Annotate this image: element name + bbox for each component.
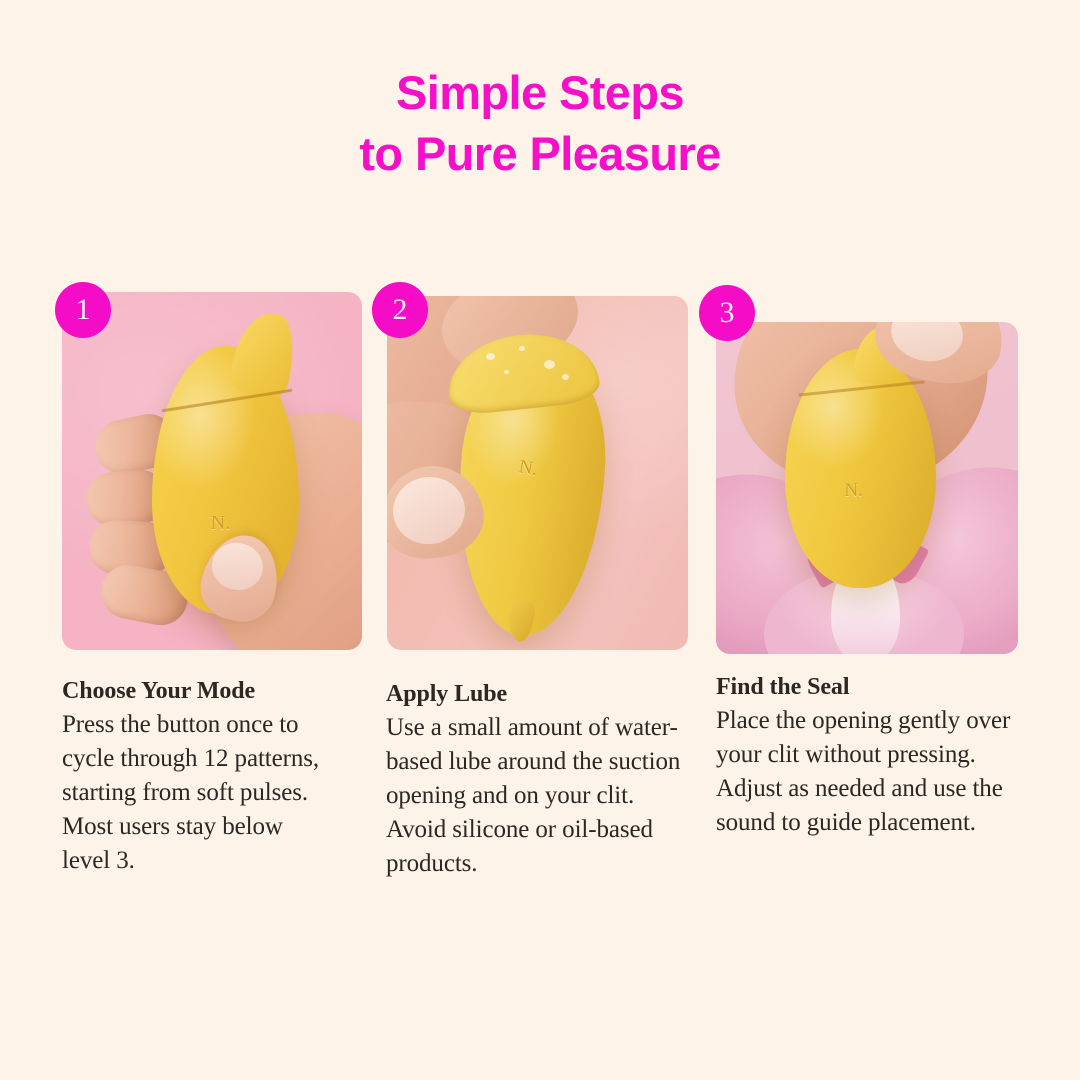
step-photo-3: N. [716,322,1018,654]
step-caption-3: Find the Seal Place the opening gently o… [716,672,1016,840]
step-badge-2: 2 [372,282,428,338]
lube-droplet [544,360,555,369]
step-title-2: Apply Lube [386,679,686,709]
step-caption-2: Apply Lube Use a small amount of water-b… [386,679,686,881]
step-title-3: Find the Seal [716,672,1016,702]
step-image-card-2: N. [387,296,688,650]
step-badge-number: 1 [76,295,91,325]
device-body: N. [785,349,936,588]
step-image-card-3: N. [716,322,1018,654]
step-body-2: Use a small amount of water-based lube a… [386,711,686,881]
step-photo-2: N. [387,296,688,650]
step-photo-1: N. [62,292,362,650]
step-title-1: Choose Your Mode [62,676,354,706]
step-badge-number: 2 [393,295,408,325]
device-seam-line [161,389,292,413]
step-badge-3: 3 [699,285,755,341]
step-badge-number: 3 [720,298,735,328]
step-body-3: Place the opening gently over your clit … [716,704,1016,840]
lube-droplet [486,353,495,360]
step-image-card-1: N. [62,292,362,650]
infographic-page: Simple Steps to Pure Pleasure N. [0,0,1080,1080]
device-logo: N. [844,480,862,502]
lube-droplet [519,346,525,351]
lube-droplet [562,374,569,380]
step-caption-1: Choose Your Mode Press the button once t… [62,676,354,878]
step-body-1: Press the button once to cycle through 1… [62,708,354,878]
steps-gallery: N. N. [0,0,1080,1080]
step-badge-1: 1 [55,282,111,338]
device-logo: N. [211,512,230,535]
device-logo: N. [517,456,539,481]
device-seam-line [798,380,924,396]
